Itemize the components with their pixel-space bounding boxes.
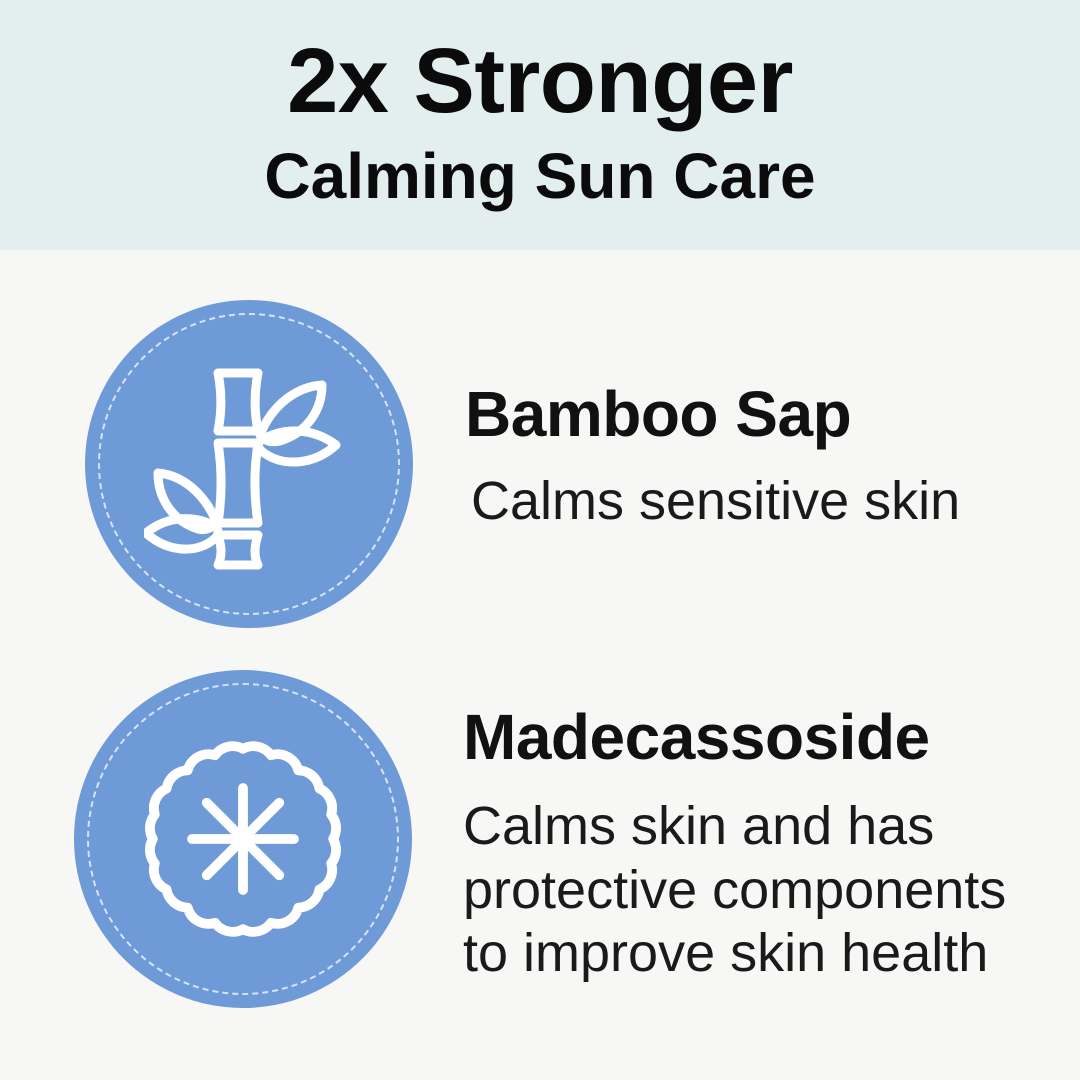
flower-star-icon — [145, 741, 341, 937]
feature-text-block: Bamboo Sap Calms sensitive skin — [465, 382, 960, 534]
features-list: Bamboo Sap Calms sensitive skin — [0, 250, 1080, 1080]
feature-icon-wrap — [0, 670, 412, 1008]
bamboo-icon-badge — [85, 300, 413, 628]
feature-description: Calms skin and has protective components… — [463, 795, 1043, 986]
feature-description: Calms sensitive skin — [471, 470, 960, 534]
bamboo-icon — [144, 357, 354, 572]
feature-icon-wrap — [0, 300, 413, 628]
feature-text-block: Madecassoside Calms skin and has protect… — [463, 705, 1043, 986]
product-benefits-infographic: 2x Stronger Calming Sun Care — [0, 0, 1080, 1080]
feature-item-bamboo-sap: Bamboo Sap Calms sensitive skin — [0, 300, 960, 628]
feature-item-madecassoside: Madecassoside Calms skin and has protect… — [0, 670, 1043, 1008]
flower-star-icon-badge — [74, 670, 412, 1008]
feature-title: Madecassoside — [463, 705, 1043, 769]
header-banner: 2x Stronger Calming Sun Care — [0, 0, 1080, 250]
header-title: 2x Stronger — [287, 35, 793, 127]
feature-title: Bamboo Sap — [465, 382, 960, 446]
header-subtitle: Calming Sun Care — [264, 143, 815, 210]
